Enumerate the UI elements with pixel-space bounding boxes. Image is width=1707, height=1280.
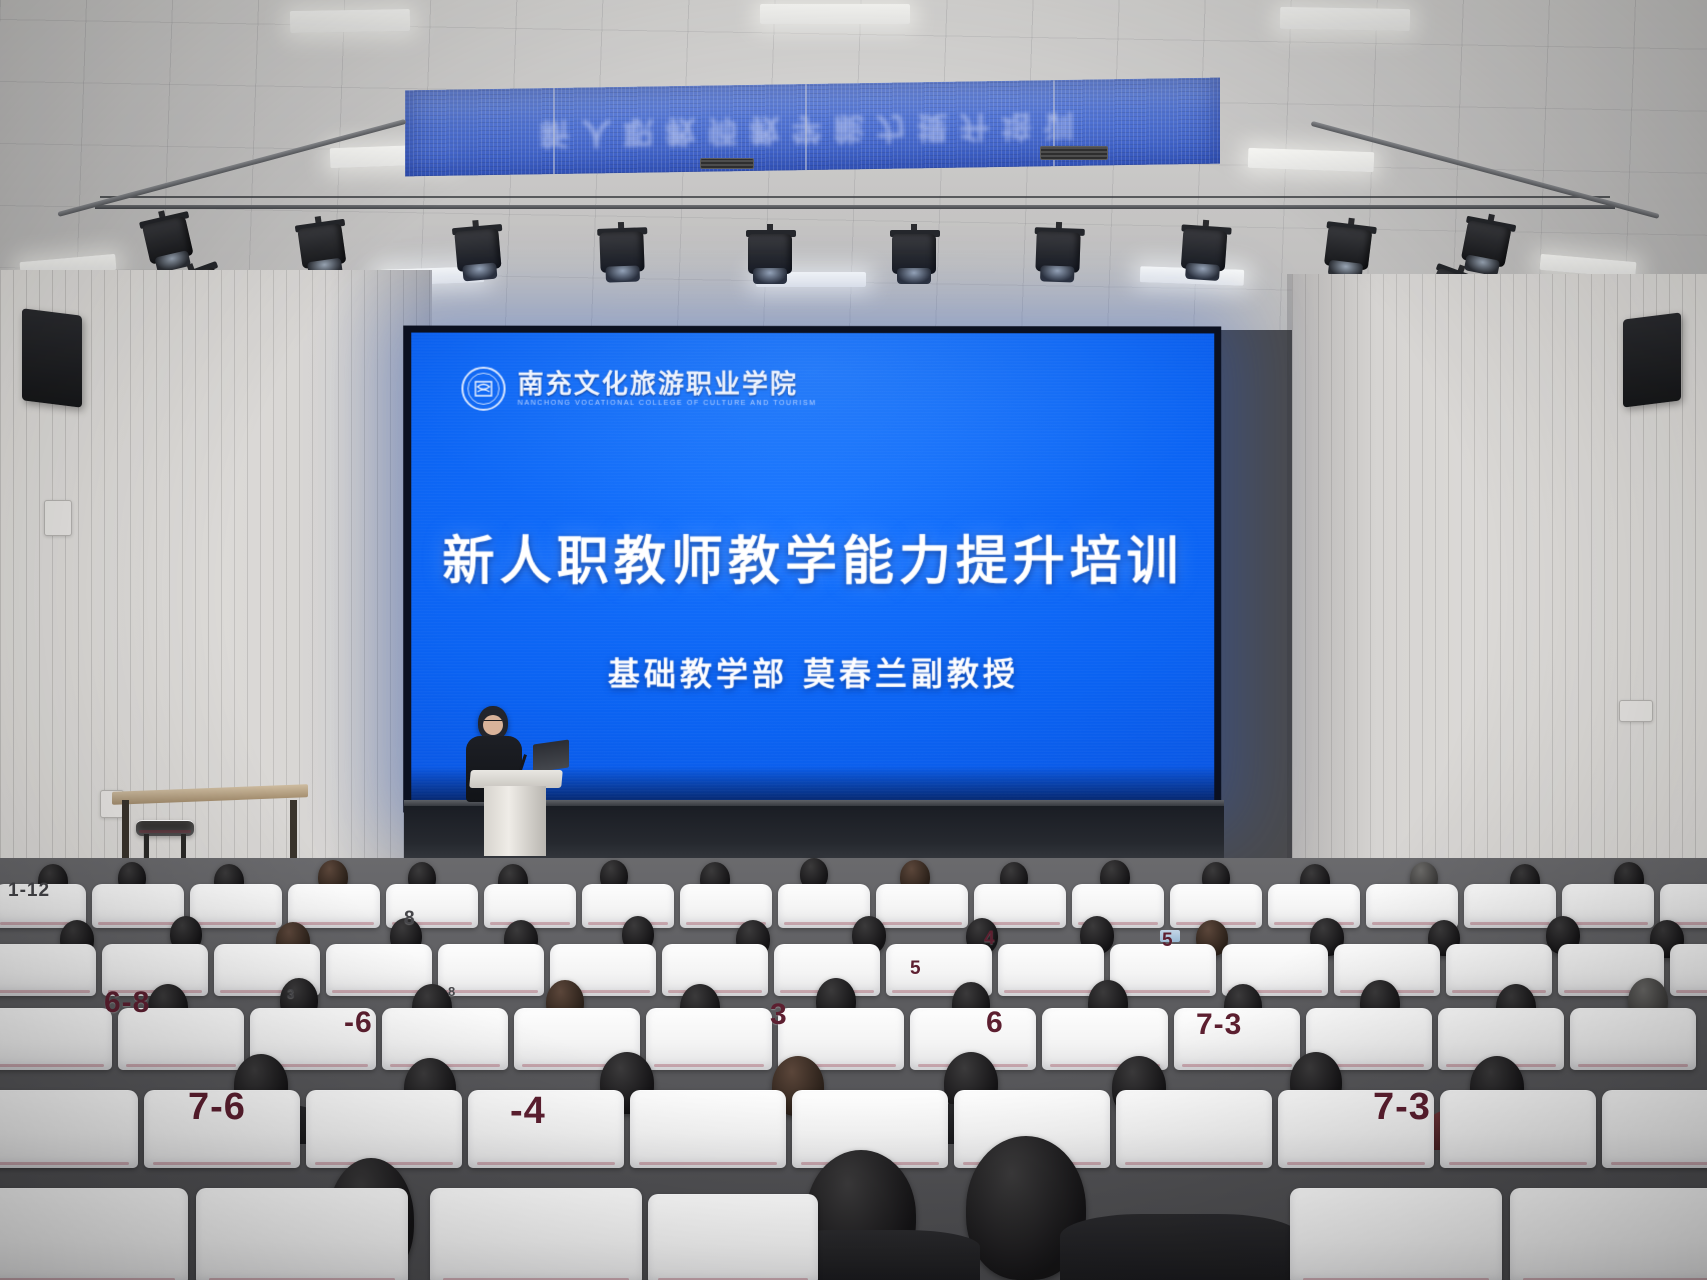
logo-name-cn: 南充文化旅游职业学院	[518, 371, 817, 397]
auditorium-seat	[190, 884, 282, 928]
auditorium-seat	[430, 1188, 642, 1280]
stage-spotlight	[892, 224, 938, 286]
spotlight-lens	[897, 268, 931, 284]
auditorium-seat	[288, 884, 380, 928]
seat-number-label: 3	[287, 986, 295, 1001]
seat-number-label: 7-3	[1196, 1008, 1242, 1042]
auditorium-seat	[306, 1090, 462, 1168]
wall-panel-device[interactable]	[44, 500, 72, 536]
auditorium-seat	[484, 884, 576, 928]
audience-shoulders	[1060, 1214, 1300, 1280]
auditorium-seat	[630, 1090, 786, 1168]
auditorium-seat	[662, 944, 768, 996]
seat-number-label: 6-8	[104, 986, 150, 1020]
table-top	[112, 784, 308, 805]
wall-speaker	[1623, 312, 1681, 407]
ceiling-light-panel	[1280, 7, 1410, 31]
glasses-icon	[484, 720, 502, 725]
auditorium-seat	[1670, 944, 1707, 996]
auditorium-seat	[1570, 1008, 1696, 1070]
ceiling-light-panel	[290, 9, 410, 33]
auditorium-seat	[646, 1008, 772, 1070]
stage-spotlight	[748, 224, 794, 286]
spotlight-lens	[462, 263, 497, 282]
auditorium-seat	[468, 1090, 624, 1168]
seat-number-label: 5	[910, 958, 922, 980]
ceiling-air-vent	[1040, 146, 1108, 160]
spotlight-lens	[753, 268, 787, 284]
slide-title: 新人职教师教学能力提升培训	[411, 519, 1214, 594]
panel-seam	[553, 88, 555, 174]
auditorium-seat	[648, 1194, 818, 1280]
seat-number-label: 7-6	[188, 1086, 246, 1129]
ceiling-light-panel	[760, 4, 910, 24]
wall-speaker	[22, 308, 82, 407]
stage-spotlight	[599, 221, 647, 285]
spotlight-lens	[605, 265, 640, 282]
wall-shadow-right	[1287, 274, 1377, 890]
auditorium-seat	[92, 884, 184, 928]
panel-seam	[805, 84, 807, 170]
auditorium-seat	[1446, 944, 1552, 996]
spotlight-lens	[1040, 265, 1075, 282]
auditorium-seat	[1268, 884, 1360, 928]
seat-number-label: 1-12	[8, 880, 50, 902]
seat-number-label: 8	[404, 908, 416, 930]
table-leg	[122, 800, 129, 862]
auditorium-seat	[1440, 1090, 1596, 1168]
lectern	[470, 770, 562, 856]
auditorium-seat	[998, 944, 1104, 996]
auditorium-seat	[1602, 1090, 1707, 1168]
institution-logo-lockup: 南充文化旅游职业学院 NANCHONG VOCATIONAL COLLEGE O…	[461, 367, 816, 411]
auditorium-seat	[382, 1008, 508, 1070]
wall-panel-device[interactable]	[1619, 700, 1653, 722]
seat-number-label: 8	[448, 984, 456, 999]
seat-number-label: 3	[770, 998, 788, 1032]
ceiling-air-vent	[700, 158, 754, 169]
audience-seating: 1-128384556-8-6367-37-6-47-3	[0, 858, 1707, 1280]
auditorium-seat	[1464, 884, 1556, 928]
lecture-hall-photo: 新人职教师教学能力提升培训	[0, 0, 1707, 1280]
slide-surface: 南充文化旅游职业学院 NANCHONG VOCATIONAL COLLEGE O…	[411, 333, 1214, 807]
auditorium-seat	[1116, 1090, 1272, 1168]
auditorium-seat	[1290, 1188, 1502, 1280]
stage-spotlight	[1035, 221, 1083, 285]
auditorium-seat	[1510, 1188, 1707, 1280]
logo-text-block: 南充文化旅游职业学院 NANCHONG VOCATIONAL COLLEGE O…	[518, 371, 817, 406]
laptop	[533, 739, 569, 772]
stage-spotlight	[1180, 218, 1230, 283]
ceiling-cable	[100, 196, 1610, 198]
auditorium-seat	[326, 944, 432, 996]
presenter-face	[483, 715, 503, 735]
lighting-rail	[95, 205, 1615, 209]
slide-subtitle: 基础教学部 莫春兰副教授	[411, 649, 1214, 695]
seat-number-label: 7-3	[1373, 1086, 1431, 1129]
auditorium-seat	[876, 884, 968, 928]
auditorium-seat	[0, 1188, 188, 1280]
university-crest-icon	[461, 367, 505, 411]
auditorium-seat	[1562, 884, 1654, 928]
ceiling-led-reflection: 新人职教师教学能力提升培训	[405, 78, 1220, 177]
logo-name-en: NANCHONG VOCATIONAL COLLEGE OF CULTURE A…	[518, 399, 817, 406]
auditorium-seat	[196, 1188, 408, 1280]
seat-number-label: 5	[1162, 930, 1174, 952]
auditorium-seat	[0, 1008, 112, 1070]
auditorium-seat	[0, 944, 96, 996]
seat-number-label: 4	[984, 928, 996, 950]
stage-spotlight	[453, 218, 504, 284]
spotlight-lens	[1185, 263, 1220, 281]
seat-number-label: 6	[986, 1006, 1004, 1040]
seat-number-label: -6	[344, 1006, 373, 1040]
lectern-column	[484, 786, 546, 856]
stage-spotlight	[1322, 215, 1375, 282]
table-leg	[290, 800, 297, 862]
auditorium-seat	[0, 1090, 138, 1168]
seat-number-label: -4	[510, 1090, 546, 1133]
